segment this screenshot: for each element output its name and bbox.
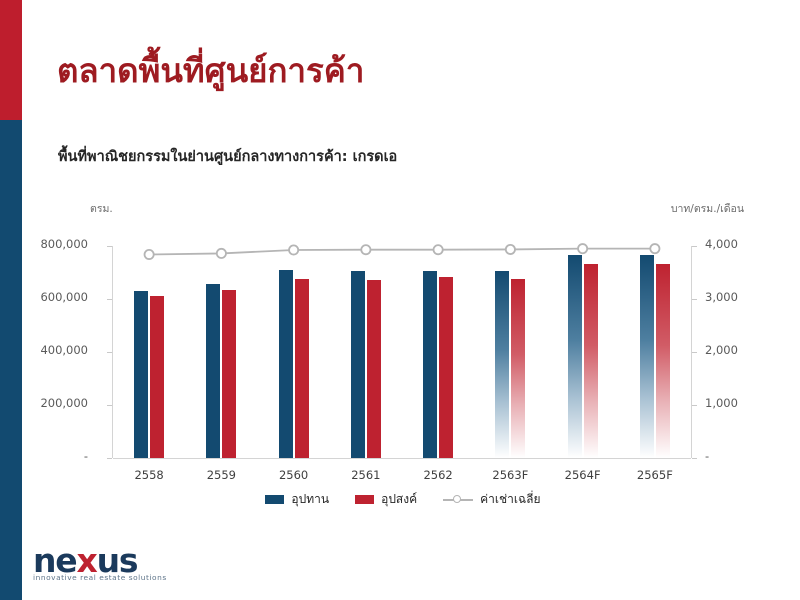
- logo-tagline: innovative real estate solutions: [33, 573, 183, 582]
- right-axis-tick: [692, 246, 697, 247]
- right-axis-tick: [692, 458, 697, 459]
- category-axis-line: [113, 458, 691, 459]
- legend-label-supply: อุปทาน: [291, 490, 329, 509]
- right-axis-tick: [692, 352, 697, 353]
- rent-line-marker: [434, 245, 443, 254]
- left-axis-tick-label: -: [84, 451, 88, 463]
- left-axis-tick-label: 400,000: [40, 345, 88, 357]
- legend-line-marker-icon: [443, 495, 473, 505]
- right-axis-tick-label: 1,000: [705, 398, 738, 410]
- category-label: 2565F: [619, 468, 691, 482]
- chart-subtitle: พื้นที่พาณิชยกรรมในย่านศูนย์กลางทางการค้…: [58, 145, 397, 168]
- left-axis-tick-label: 800,000: [40, 239, 88, 251]
- legend-swatch-blue-icon: [265, 495, 284, 504]
- legend-item-supply[interactable]: อุปทาน: [265, 490, 329, 509]
- category-label: 2563F: [474, 468, 546, 482]
- right-axis-tick-label: -: [705, 451, 709, 463]
- rent-line-marker: [145, 250, 154, 259]
- left-axis-tick-label: 600,000: [40, 292, 88, 304]
- chart-container: ตรม. บาท/ตรม./เดือน -200,000400,000600,0…: [58, 190, 748, 530]
- right-axis-tick-label: 2,000: [705, 345, 738, 357]
- right-axis-tick: [692, 405, 697, 406]
- left-axis-unit-label: ตรม.: [90, 200, 113, 217]
- left-axis-tick: [107, 458, 112, 459]
- category-label: 2558: [113, 468, 185, 482]
- rent-line-marker: [650, 244, 659, 253]
- left-axis-tick: [107, 405, 112, 406]
- left-axis-tick: [107, 246, 112, 247]
- category-label: 2560: [258, 468, 330, 482]
- chart-legend: อุปทาน อุปสงค์ ค่าเช่าเฉลี่ย: [58, 490, 748, 509]
- page-title: ตลาดพื้นที่ศูนย์การค้า: [57, 52, 364, 90]
- rent-line-marker: [361, 245, 370, 254]
- left-axis-tick: [107, 299, 112, 300]
- left-accent-bar-red: [0, 0, 22, 120]
- right-axis-unit-label: บาท/ตรม./เดือน: [671, 200, 744, 217]
- nexus-logo: nexus innovative real estate solutions: [33, 544, 183, 582]
- right-axis-tick: [692, 299, 697, 300]
- category-label: 2562: [402, 468, 474, 482]
- legend-item-rent[interactable]: ค่าเช่าเฉลี่ย: [443, 490, 540, 509]
- rent-line-marker: [289, 245, 298, 254]
- category-label: 2561: [330, 468, 402, 482]
- rent-line-marker: [217, 249, 226, 258]
- slide-canvas: ตลาดพื้นที่ศูนย์การค้า พื้นที่พาณิชยกรรม…: [0, 0, 800, 600]
- legend-label-rent: ค่าเช่าเฉลี่ย: [480, 490, 540, 509]
- legend-label-demand: อุปสงค์: [381, 490, 417, 509]
- right-axis-tick-label: 4,000: [705, 239, 738, 251]
- left-axis-tick-label: 200,000: [40, 398, 88, 410]
- left-axis-tick: [107, 352, 112, 353]
- category-label: 2559: [185, 468, 257, 482]
- rent-line-marker: [578, 244, 587, 253]
- rent-line-series: [113, 246, 691, 458]
- legend-item-demand[interactable]: อุปสงค์: [355, 490, 417, 509]
- legend-swatch-red-icon: [355, 495, 374, 504]
- left-accent-bar-navy: [0, 120, 22, 600]
- plot-area: -200,000400,000600,000800,000 -1,0002,00…: [113, 246, 691, 458]
- right-axis-tick-label: 3,000: [705, 292, 738, 304]
- category-label: 2564F: [547, 468, 619, 482]
- rent-line-marker: [506, 245, 515, 254]
- rent-line-actual: [438, 249, 655, 250]
